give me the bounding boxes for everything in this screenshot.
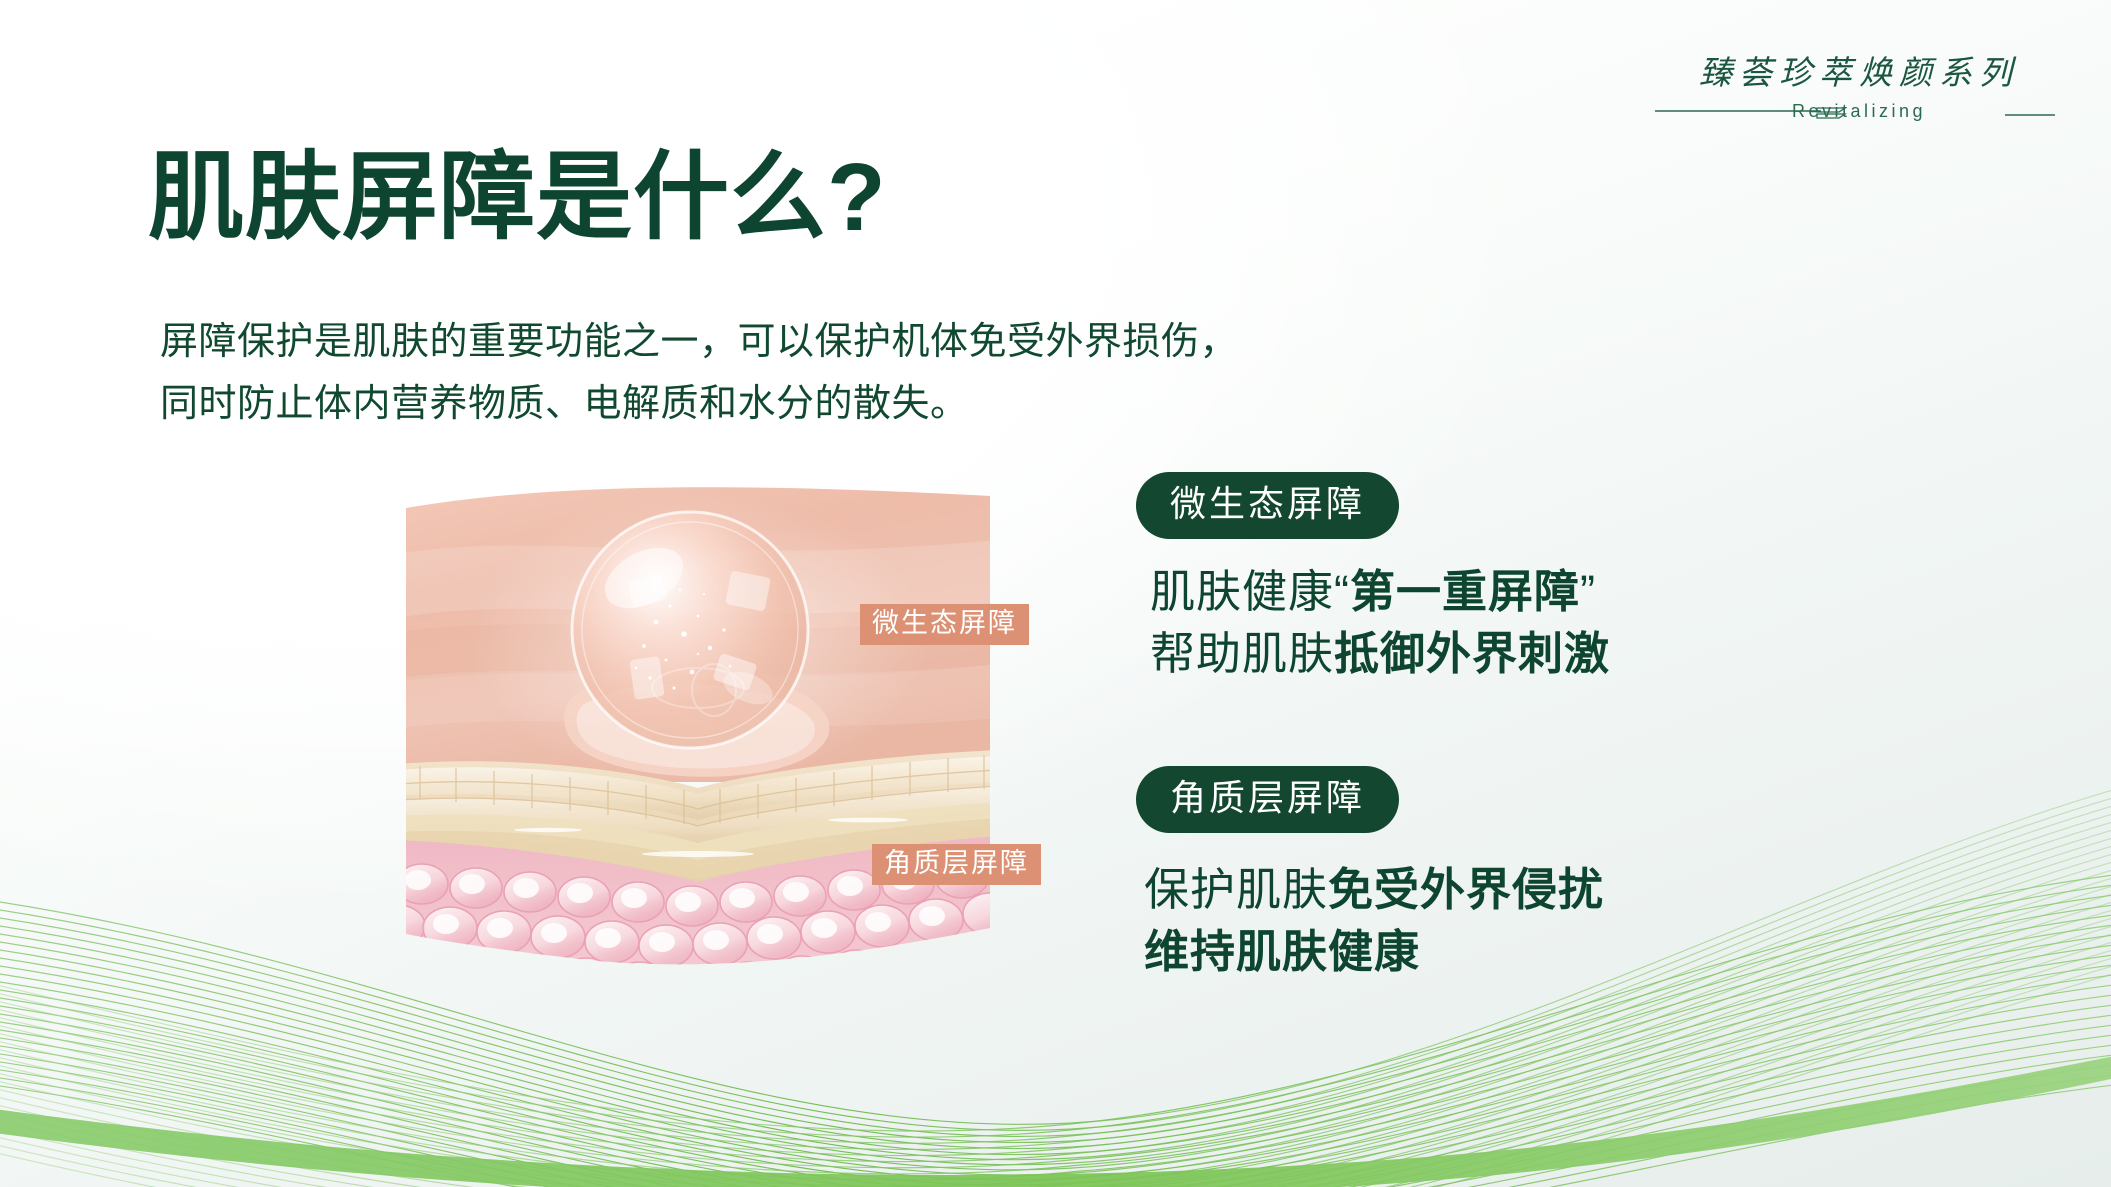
- line-1-plain: 肌肤健康: [1150, 566, 1334, 617]
- figure-caption-stratum-corneum: 角质层屏障: [872, 844, 1041, 885]
- page-title: 肌肤屏障是什么?: [148, 150, 887, 246]
- brand-rule: Revitalizing: [1649, 99, 2069, 125]
- line-2-emphasis: 抵御外界刺激: [1334, 628, 1610, 679]
- quote-open: “: [1334, 566, 1350, 617]
- page-subtitle: 屏障保护是肌肤的重要功能之一，可以保护机体免受外界损伤， 同时防止体内营养物质、…: [160, 312, 1238, 435]
- content-lines-microbiome: 肌肤健康“第一重屏障” 帮助肌肤抵御外界刺激: [1150, 561, 1610, 685]
- badge-stratum-corneum-barrier: 角质层屏障: [1136, 766, 1399, 833]
- badge-microbiome-barrier: 微生态屏障: [1136, 472, 1399, 539]
- skin-diagram-icon: [398, 482, 998, 990]
- brand-logo: 臻荟珍萃焕颜系列 Revitalizing: [1649, 46, 2069, 125]
- content-block-microbiome: 微生态屏障 肌肤健康“第一重屏障” 帮助肌肤抵御外界刺激: [1136, 472, 1610, 685]
- content-line-1: 保护肌肤免受外界侵扰: [1144, 859, 1604, 921]
- content-line-2: 帮助肌肤抵御外界刺激: [1150, 623, 1610, 685]
- line-2-emphasis: 维持肌肤健康: [1144, 926, 1420, 977]
- slide-canvas: 臻荟珍萃焕颜系列 Revitalizing 肌肤屏障是什么? 屏障保护是肌肤的重…: [0, 0, 2111, 1187]
- skin-cross-section-illustration: [398, 482, 998, 990]
- line-1-emphasis: 免受外界侵扰: [1328, 864, 1604, 915]
- line-1-emphasis: 第一重屏障: [1350, 566, 1580, 617]
- background-wave-decoration: [0, 767, 2111, 1187]
- subtitle-line-2: 同时防止体内营养物质、电解质和水分的散失。: [160, 374, 1238, 436]
- content-lines-stratum-corneum: 保护肌肤免受外界侵扰 维持肌肤健康: [1144, 859, 1604, 983]
- brand-name-en: Revitalizing: [1782, 101, 1936, 122]
- brand-name-cn: 臻荟珍萃焕颜系列: [1649, 46, 2069, 94]
- content-line-2: 维持肌肤健康: [1144, 921, 1604, 983]
- content-line-1: 肌肤健康“第一重屏障”: [1150, 561, 1610, 623]
- content-block-stratum-corneum: 角质层屏障 保护肌肤免受外界侵扰 维持肌肤健康: [1136, 766, 1604, 983]
- figure-caption-microbiome: 微生态屏障: [860, 604, 1029, 645]
- subtitle-line-1: 屏障保护是肌肤的重要功能之一，可以保护机体免受外界损伤，: [160, 312, 1238, 374]
- quote-close: ”: [1580, 566, 1596, 617]
- line-1-plain: 保护肌肤: [1144, 864, 1328, 915]
- line-2-plain: 帮助肌肤: [1150, 628, 1334, 679]
